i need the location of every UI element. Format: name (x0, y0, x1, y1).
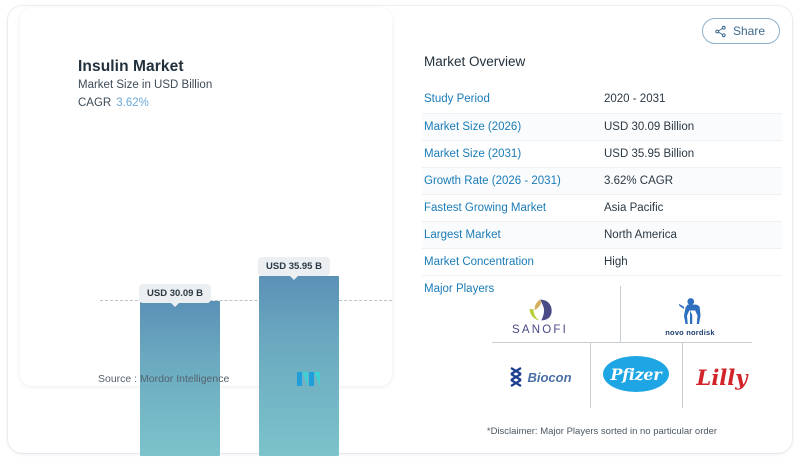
share-icon (714, 25, 727, 38)
pfizer-wordmark: Pfizer (611, 365, 662, 384)
chart-panel: Insulin Market Market Size in USD Billio… (20, 8, 392, 386)
player-logo-lilly[interactable]: Lilly (682, 348, 762, 406)
row-value: USD 30.09 Billion (602, 113, 782, 140)
cagr-value: 3.62% (116, 97, 149, 109)
table-row: Market Size (2026) USD 30.09 Billion (422, 113, 782, 140)
cagr-row: CAGR3.62% (78, 97, 149, 109)
bar-chart-plot: USD 30.09 B USD 35.95 B 2026 2031 (40, 128, 372, 358)
row-key: Market Size (2026) (422, 113, 602, 140)
pfizer-logo-icon: Pfizer (603, 356, 669, 392)
row-key: Fastest Growing Market (422, 194, 602, 221)
row-key: Largest Market (422, 221, 602, 248)
row-key: Market Size (2031) (422, 140, 602, 167)
player-logo-biocon[interactable]: Biocon (492, 348, 588, 406)
table-row: Growth Rate (2026 - 2031) 3.62% CAGR (422, 167, 782, 194)
row-value: 3.62% CAGR (602, 167, 782, 194)
player-logo-pfizer[interactable]: Pfizer (590, 342, 682, 406)
divider-v-top (620, 286, 621, 342)
biocon-logo-icon (508, 367, 524, 387)
sanofi-logo-icon (527, 298, 553, 322)
lilly-wordmark: Lilly (697, 365, 748, 390)
source-row: Source : Mordor Intelligence (98, 373, 229, 385)
screenshot-root: Insulin Market Market Size in USD Billio… (0, 0, 800, 459)
novo-nordisk-logo-icon (675, 297, 705, 327)
row-value: USD 35.95 Billion (602, 140, 782, 167)
row-value: High (602, 248, 782, 275)
player-logo-novo-nordisk[interactable]: novo nordisk (642, 288, 738, 346)
mordor-intelligence-logo-icon (297, 370, 321, 386)
table-row: Market Concentration High (422, 248, 782, 275)
overview-title: Market Overview (424, 54, 525, 69)
player-logo-sanofi[interactable]: SANOFI (496, 288, 584, 346)
players-disclaimer: *Disclaimer: Major Players sorted in no … (422, 426, 782, 437)
data-label-2031: USD 35.95 B (258, 257, 330, 276)
novo-nordisk-wordmark: novo nordisk (665, 328, 715, 337)
overview-table: Study Period 2020 - 2031 Market Size (20… (422, 86, 782, 302)
table-row: Market Size (2031) USD 35.95 Billion (422, 140, 782, 167)
row-key: Market Concentration (422, 248, 602, 275)
sanofi-wordmark: SANOFI (512, 324, 568, 336)
bar-2031[interactable] (259, 276, 339, 456)
major-players-logo-grid: SANOFI novo nordisk (492, 286, 752, 408)
row-key: Study Period (422, 86, 602, 113)
source-name: Mordor Intelligence (140, 373, 229, 385)
chart-subtitle: Market Size in USD Billion (78, 79, 212, 91)
chart-title: Insulin Market (78, 58, 184, 76)
table-row: Study Period 2020 - 2031 (422, 86, 782, 113)
row-value: Asia Pacific (602, 194, 782, 221)
share-button[interactable]: Share (702, 18, 780, 44)
data-label-2026: USD 30.09 B (139, 284, 211, 303)
market-overview-panel: Share Market Overview Study Period 2020 … (422, 8, 788, 448)
table-row: Largest Market North America (422, 221, 782, 248)
row-value: 2020 - 2031 (602, 86, 782, 113)
cagr-label: CAGR (78, 97, 111, 109)
row-value: North America (602, 221, 782, 248)
table-row: Fastest Growing Market Asia Pacific (422, 194, 782, 221)
biocon-wordmark: Biocon (527, 370, 571, 385)
row-key: Growth Rate (2026 - 2031) (422, 167, 602, 194)
source-label: Source : (98, 373, 137, 385)
share-button-label: Share (733, 24, 765, 38)
